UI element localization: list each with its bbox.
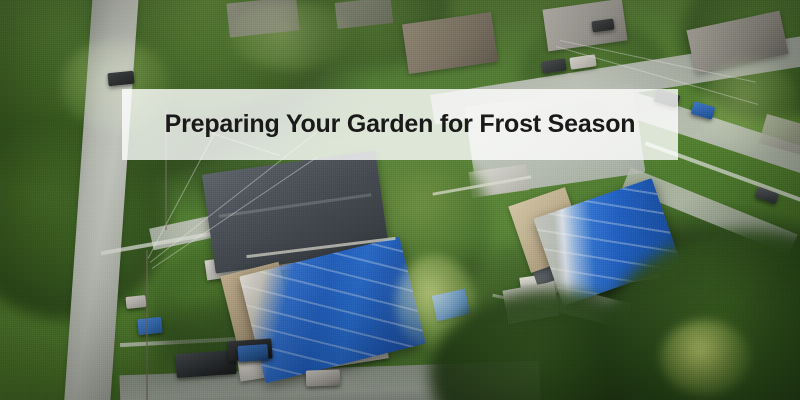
page-title: Preparing Your Garden for Frost Season: [165, 110, 636, 139]
parked-vehicle: [306, 369, 341, 386]
parked-vehicle: [237, 344, 268, 362]
sunlit-foliage: [660, 320, 750, 395]
utility-pole: [146, 250, 148, 400]
parked-vehicle: [125, 295, 146, 309]
parked-vehicle: [107, 71, 134, 87]
tarp-covered-object: [137, 317, 163, 335]
title-overlay-banner: Preparing Your Garden for Frost Season: [122, 89, 678, 160]
sunlit-foliage: [230, 0, 350, 70]
hero-banner: Preparing Your Garden for Frost Season: [0, 0, 800, 400]
aerial-neighborhood-photo: [0, 0, 800, 400]
